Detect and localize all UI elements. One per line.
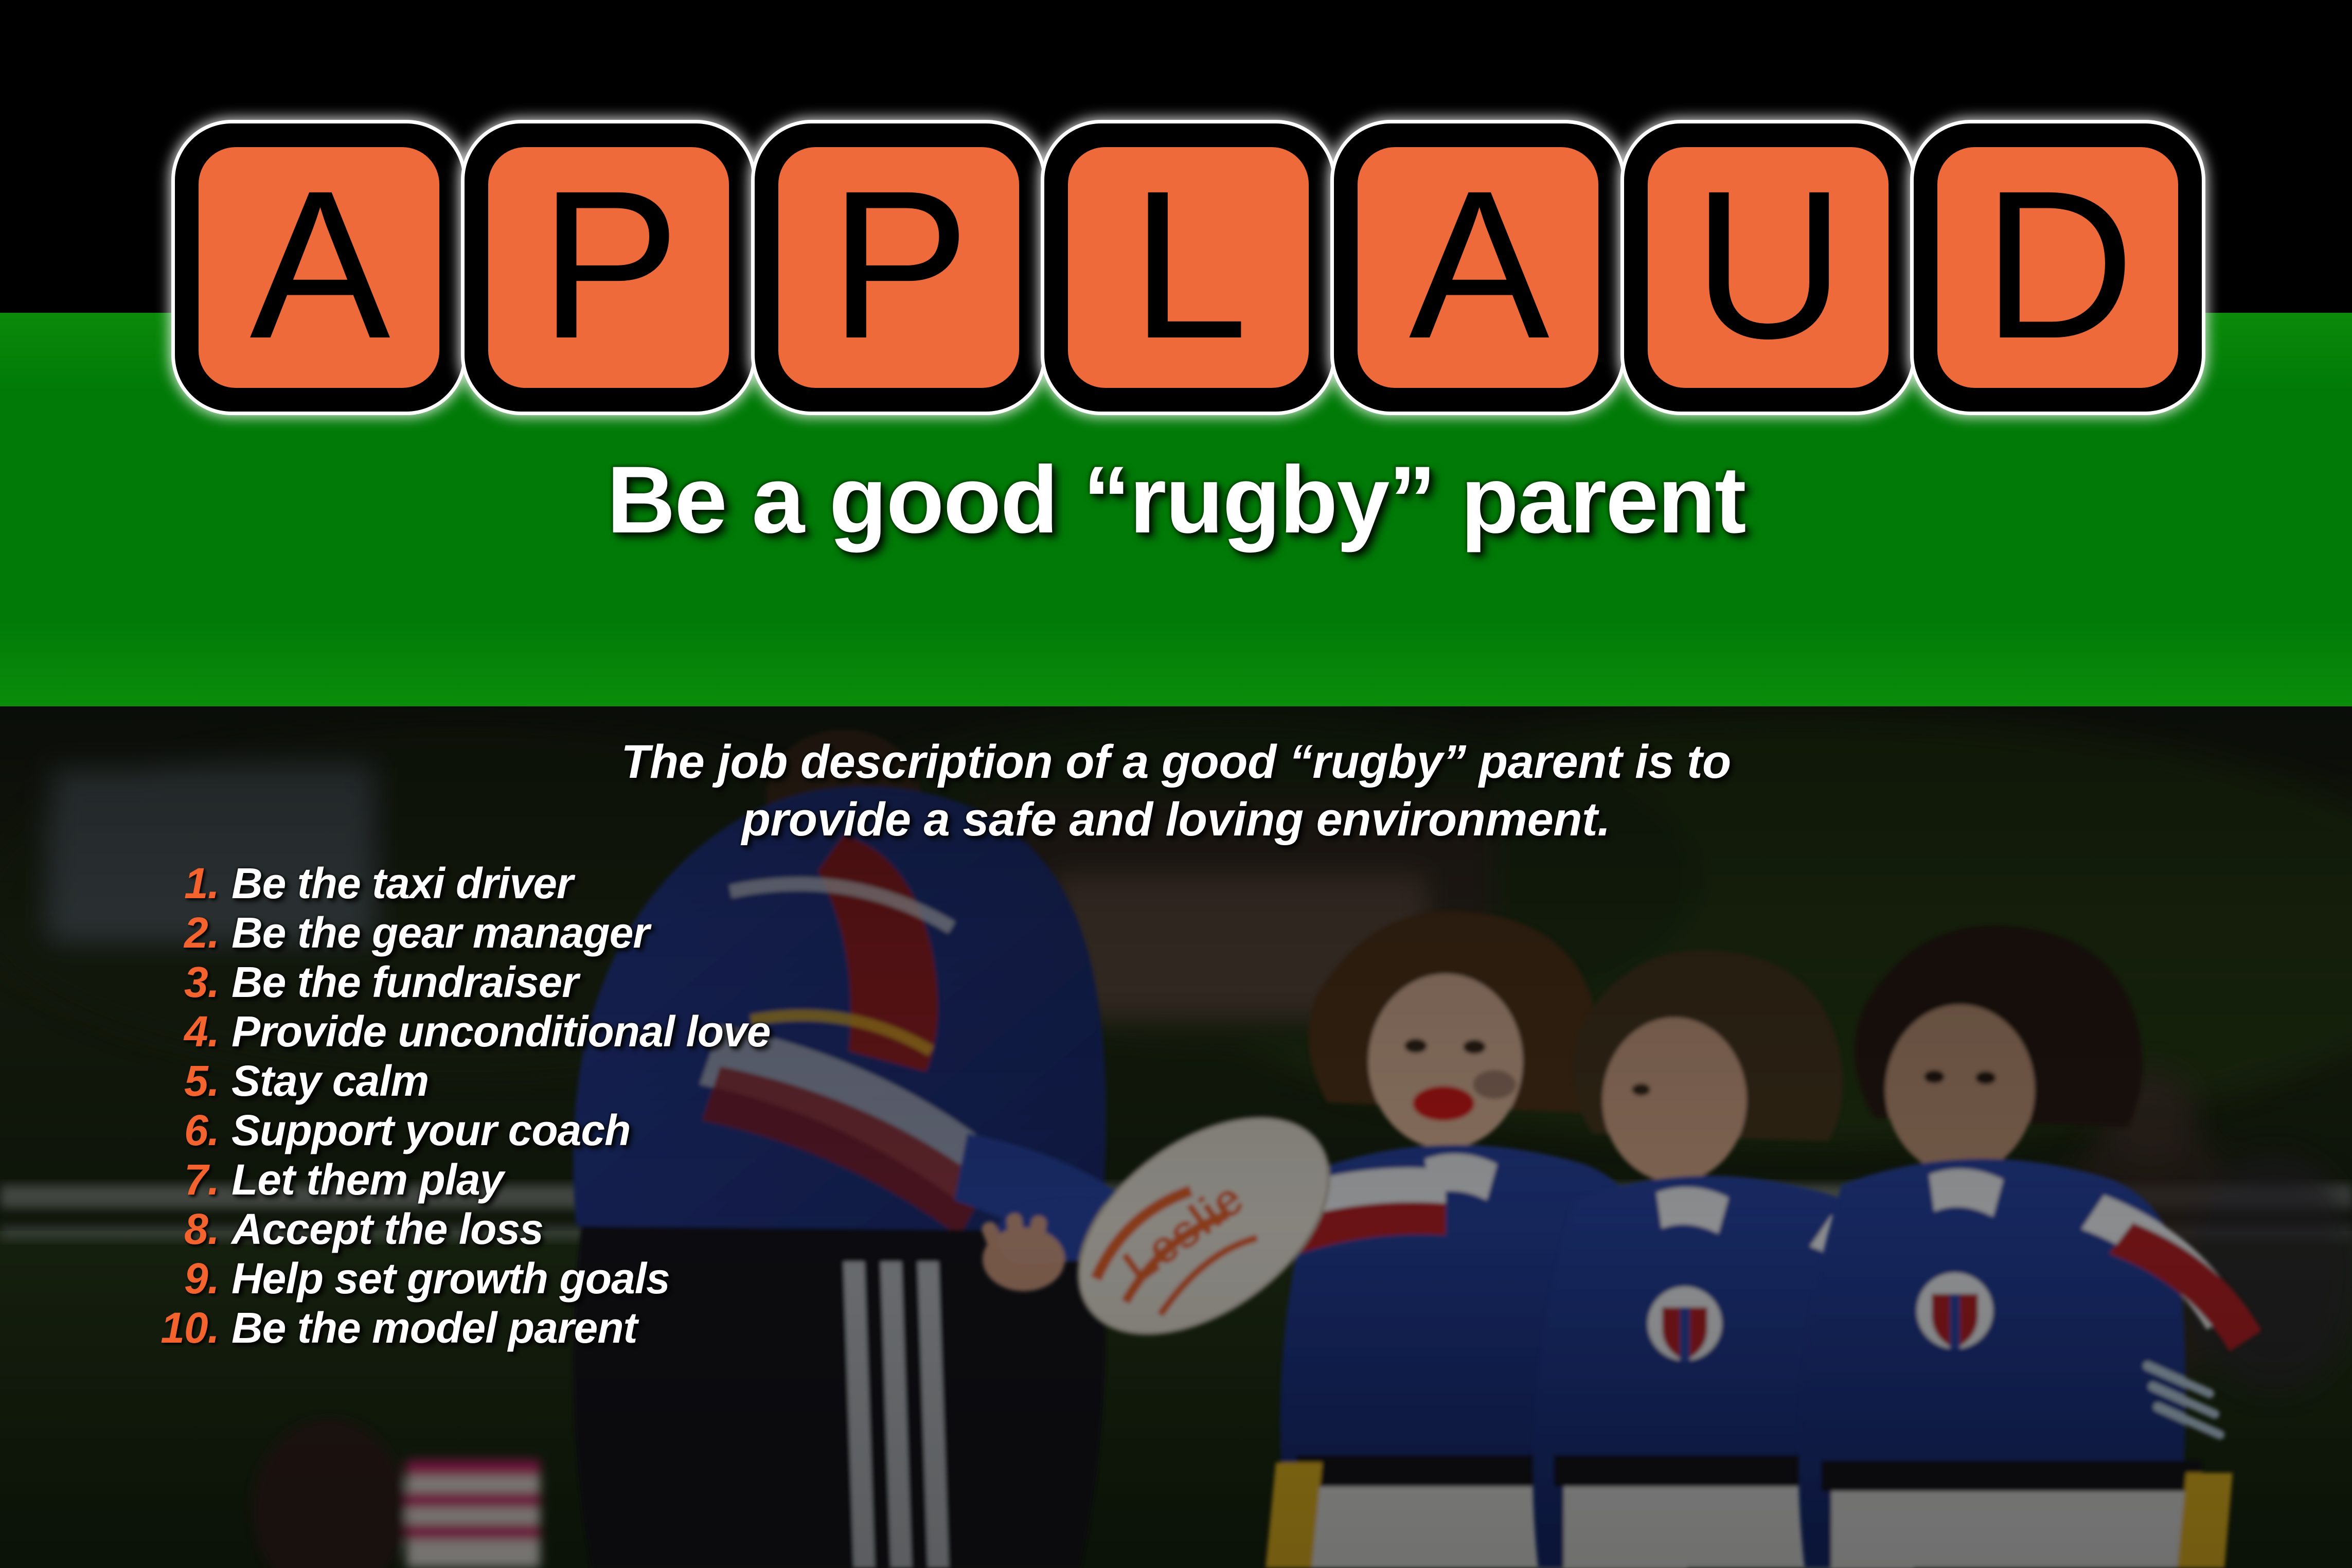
letter-tile-1: A [175,123,463,412]
tile-letter-text: D [1983,159,2133,370]
list-item-number: 6. [154,1109,231,1152]
list-item: 4. Provide unconditional love [154,1010,1132,1059]
list-item-number: 9. [154,1257,231,1300]
list-item-label: Stay calm [231,1059,1132,1102]
tile-face: L [1068,147,1309,388]
tile-letter-text: P [829,159,968,370]
letter-tile-4: L [1044,123,1332,412]
tile-face: D [1937,147,2178,388]
tile-letter-text: U [1693,159,1843,370]
list-item: 2. Be the gear manager [154,911,1132,960]
list-item: 9. Help set growth goals [154,1257,1132,1306]
letter-tile-5: A [1334,123,1622,412]
list-item-number: 4. [154,1010,231,1053]
job-description-line-1: The job description of a good “rugby” pa… [391,733,1961,791]
list-item-label: Let them play [231,1158,1132,1201]
list-item-label: Provide unconditional love [231,1010,1132,1053]
letter-tile-2: P [465,123,753,412]
list-item-number: 5. [154,1059,231,1102]
job-description: The job description of a good “rugby” pa… [391,733,1961,848]
list-item-number: 2. [154,911,231,954]
list-item-number: 10. [154,1306,231,1349]
poster-subtitle: Be a good “rugby” parent [0,453,2352,548]
tile-letter-text: A [1409,159,1547,370]
list-item: 10. Be the model parent [154,1306,1132,1356]
letter-tile-7: D [1914,123,2202,412]
letter-tile-6: U [1624,123,1912,412]
tips-list: 1. Be the taxi driver 2. Be the gear man… [154,862,1132,1356]
list-item: 8. Accept the loss [154,1207,1132,1257]
list-item-number: 1. [154,862,231,905]
list-item-label: Be the taxi driver [231,862,1132,905]
poster-root: Leslie [0,0,2352,1568]
list-item: 3. Be the fundraiser [154,960,1132,1010]
list-item: 7. Let them play [154,1158,1132,1207]
tile-letter-text: A [250,159,388,370]
tile-face: A [199,147,439,388]
list-item-number: 8. [154,1207,231,1251]
list-item-number: 3. [154,960,231,1004]
list-item-label: Be the fundraiser [231,960,1132,1004]
list-item-label: Be the model parent [231,1306,1132,1349]
tile-face: P [778,147,1019,388]
list-item-label: Help set growth goals [231,1257,1132,1300]
tile-letter-text: P [540,159,678,370]
tile-face: A [1358,147,1598,388]
tile-face: U [1648,147,1888,388]
list-item-label: Accept the loss [231,1207,1132,1251]
tile-face: P [488,147,729,388]
list-item-label: Support your coach [231,1109,1132,1152]
job-description-line-2: provide a safe and loving environment. [391,791,1961,848]
list-item: 6. Support your coach [154,1109,1132,1158]
list-item: 1. Be the taxi driver [154,862,1132,911]
list-item: 5. Stay calm [154,1059,1132,1109]
letter-tile-3: P [755,123,1043,412]
applaud-acronym-tiles: A P P L A [175,123,2202,412]
list-item-number: 7. [154,1158,231,1201]
tile-letter-text: L [1131,159,1246,370]
list-item-label: Be the gear manager [231,911,1132,954]
